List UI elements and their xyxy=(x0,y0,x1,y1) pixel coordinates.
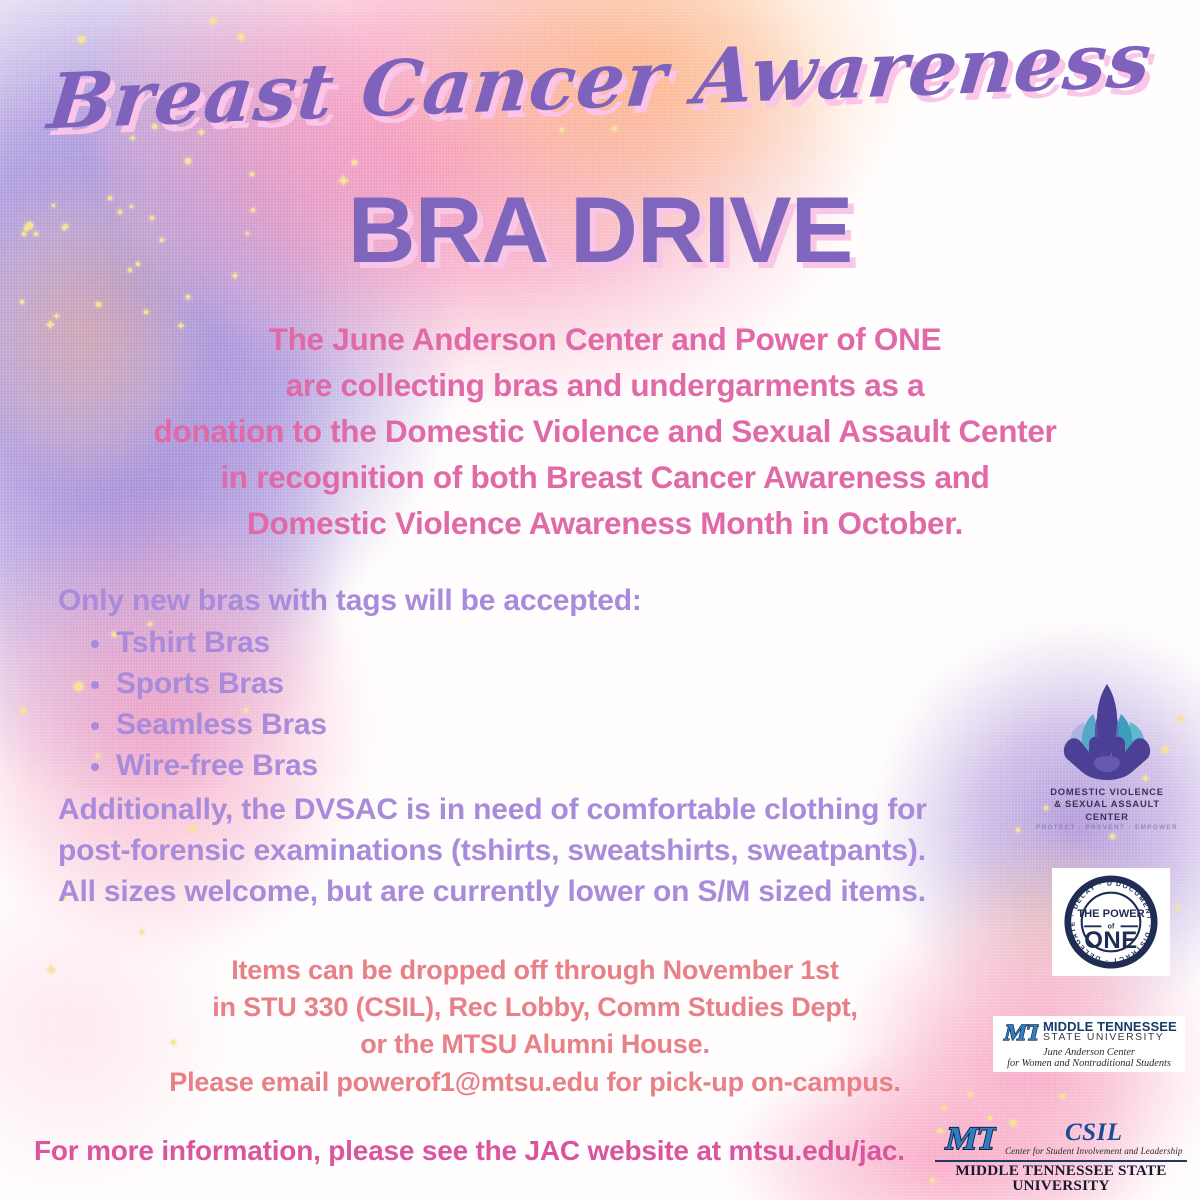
accepted-items-section: Only new bras with tags will be accepted… xyxy=(58,580,1078,912)
dvsac-line-2: & SEXUAL ASSAULT xyxy=(1022,798,1192,810)
mtsu-mt-mark-icon: MT xyxy=(997,1019,1039,1045)
bullet-icon xyxy=(91,681,99,689)
mtsu-line-2: STATE UNIVERSITY xyxy=(1043,1033,1177,1044)
list-item-label: Tshirt Bras xyxy=(116,626,270,659)
additional-needs-paragraph: Additionally, the DVSAC is in need of co… xyxy=(58,789,1078,912)
mtsu-name-block: MIDDLE TENNESSEE STATE UNIVERSITY xyxy=(1043,1020,1177,1044)
intro-line: are collecting bras and undergarments as… xyxy=(60,362,1150,408)
list-item-label: Wire-free Bras xyxy=(116,749,318,782)
intro-line: The June Anderson Center and Power of ON… xyxy=(60,316,1150,362)
mtsu-wordmark-row: MT MIDDLE TENNESSEE STATE UNIVERSITY xyxy=(997,1019,1181,1045)
csil-subtitle: Center for Student Involvement and Leade… xyxy=(1005,1146,1183,1156)
intro-line: Domestic Violence Awareness Month in Oct… xyxy=(60,500,1150,546)
dropoff-info: Items can be dropped off through Novembe… xyxy=(50,952,1020,1101)
script-title: Breast Cancer Awareness xyxy=(0,13,1200,148)
dvsac-line-3: CENTER xyxy=(1022,811,1192,823)
mt-letters: MT xyxy=(1002,1020,1039,1045)
dropoff-line: Items can be dropped off through Novembe… xyxy=(50,952,1020,989)
bullet-icon xyxy=(91,763,99,771)
dvsac-logo-text: DOMESTIC VIOLENCE & SEXUAL ASSAULT CENTE… xyxy=(1022,786,1192,823)
mtsu-jac-logo: MT MIDDLE TENNESSEE STATE UNIVERSITY Jun… xyxy=(993,1016,1185,1072)
lotus-hands-icon xyxy=(1022,678,1192,790)
list-item: Seamless Bras xyxy=(88,704,1078,745)
csil-university: MIDDLE TENNESSEE STATE UNIVERSITY xyxy=(935,1163,1187,1193)
intro-line: in recognition of both Breast Cancer Awa… xyxy=(60,454,1150,500)
csil-mt-mark-icon: MT xyxy=(935,1118,997,1158)
dvsac-line-1: DOMESTIC VIOLENCE xyxy=(1022,786,1192,798)
csil-word-block: CSIL Center for Student Involvement and … xyxy=(1005,1120,1183,1158)
list-item: Tshirt Bras xyxy=(88,622,1078,663)
mtsu-line-1: MIDDLE TENNESSEE xyxy=(1043,1020,1177,1033)
power-of-one-seal-icon: DOCUMENT · DISTRACT · DELEGATE · DELAY ·… xyxy=(1063,874,1159,970)
power-of-one-logo: DOCUMENT · DISTRACT · DELEGATE · DELAY ·… xyxy=(1052,868,1170,976)
additional-line: post-forensic examinations (tshirts, swe… xyxy=(58,830,1078,871)
list-item-label: Sports Bras xyxy=(116,667,284,700)
power-of-one-main-text: ONE xyxy=(1084,927,1137,954)
bullet-icon xyxy=(91,640,99,648)
main-title: BRA DRIVE xyxy=(0,176,1200,284)
jac-line-2: for Women and Nontraditional Students xyxy=(997,1058,1181,1069)
intro-paragraph: The June Anderson Center and Power of ON… xyxy=(60,316,1150,546)
bullet-icon xyxy=(91,722,99,730)
csil-name: CSIL xyxy=(1005,1120,1183,1145)
dropoff-line: or the MTSU Alumni House. xyxy=(50,1026,1020,1063)
additional-line: Additionally, the DVSAC is in need of co… xyxy=(58,789,1078,830)
dvsac-tagline: PROTECT · PREVENT · EMPOWER xyxy=(1022,824,1192,831)
jac-line-1: June Anderson Center xyxy=(997,1047,1181,1058)
additional-line: All sizes welcome, but are currently low… xyxy=(58,871,1078,912)
dvsac-logo: DOMESTIC VIOLENCE & SEXUAL ASSAULT CENTE… xyxy=(1022,678,1192,843)
list-item-label: Seamless Bras xyxy=(116,708,327,741)
list-item: Wire-free Bras xyxy=(88,745,1078,786)
mt-letters: MT xyxy=(943,1121,997,1157)
intro-line: donation to the Domestic Violence and Se… xyxy=(60,408,1150,454)
contact-email-line: Please email powerof1@mtsu.edu for pick-… xyxy=(50,1064,1020,1101)
poster-canvas: ✦ ✦ ✦ ✦ ✦ ✦ ✦ ✦ ✦ ✦ ✦ ✦ xyxy=(0,0,1200,1200)
footer-website-line: For more information, please see the JAC… xyxy=(34,1135,905,1167)
csil-top-row: MT CSIL Center for Student Involvement a… xyxy=(935,1118,1187,1158)
accepted-bras-list: Tshirt Bras Sports Bras Seamless Bras Wi… xyxy=(88,622,1078,786)
accept-heading: Only new bras with tags will be accepted… xyxy=(58,580,1078,621)
list-item: Sports Bras xyxy=(88,663,1078,704)
dropoff-line: in STU 330 (CSIL), Rec Lobby, Comm Studi… xyxy=(50,989,1020,1026)
csil-logo: MT CSIL Center for Student Involvement a… xyxy=(935,1118,1187,1184)
power-of-one-top-text: THE POWER xyxy=(1077,908,1144,920)
